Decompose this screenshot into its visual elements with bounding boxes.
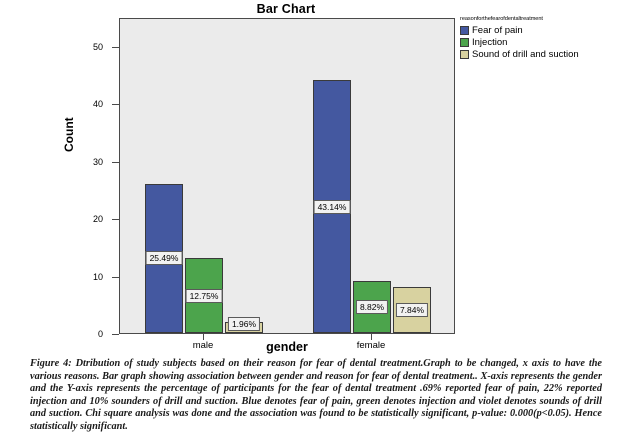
y-axis	[112, 18, 119, 334]
y-axis-tick	[112, 219, 119, 220]
bar-value-label: 1.96%	[228, 317, 260, 331]
bar-value-label: 25.49%	[146, 251, 183, 265]
y-axis-tick	[112, 277, 119, 278]
legend-item: Injection	[460, 37, 628, 48]
y-axis-tick-label: 10	[93, 272, 103, 282]
bar-value-label: 12.75%	[186, 289, 223, 303]
legend-item-label: Sound of drill and suction	[472, 49, 579, 60]
legend-item: Sound of drill and suction	[460, 49, 628, 60]
y-axis-tick	[112, 334, 119, 335]
legend-swatch-icon	[460, 26, 469, 35]
figure-caption: Figure 4: Dtribution of study subjects b…	[30, 358, 602, 434]
y-axis-tick-label: 40	[93, 99, 103, 109]
y-axis-tick-label: 50	[93, 42, 103, 52]
bar-value-label: 7.84%	[396, 303, 428, 317]
y-axis-tick-label: 20	[93, 214, 103, 224]
legend-items: Fear of painInjectionSound of drill and …	[460, 25, 628, 60]
y-axis-tick-label: 30	[93, 157, 103, 167]
legend-item-label: Injection	[472, 37, 507, 48]
legend-swatch-icon	[460, 50, 469, 59]
legend-item-label: Fear of pain	[472, 25, 523, 36]
legend: reasonforthefearofdentaltreatment Fear o…	[460, 16, 628, 61]
figure-container: Bar Chart 01020304050 Count 25.49%12.75%…	[0, 0, 631, 358]
y-axis-tick	[112, 104, 119, 105]
y-axis-tick-labels: 01020304050	[0, 18, 112, 334]
y-axis-tick-label: 0	[98, 329, 103, 339]
y-axis-tick	[112, 162, 119, 163]
bar-value-label: 43.14%	[314, 200, 351, 214]
x-axis-title: gender	[119, 340, 455, 354]
plot-inner: 25.49%12.75%1.96%43.14%8.82%7.84%	[120, 19, 454, 333]
y-axis-tick	[112, 47, 119, 48]
legend-swatch-icon	[460, 38, 469, 47]
y-axis-title: Count	[62, 117, 76, 152]
chart-title: Bar Chart	[118, 2, 454, 16]
legend-item: Fear of pain	[460, 25, 628, 36]
bar-value-label: 8.82%	[356, 300, 388, 314]
legend-title: reasonforthefearofdentaltreatment	[460, 16, 628, 22]
plot-area: 25.49%12.75%1.96%43.14%8.82%7.84%	[119, 18, 455, 334]
